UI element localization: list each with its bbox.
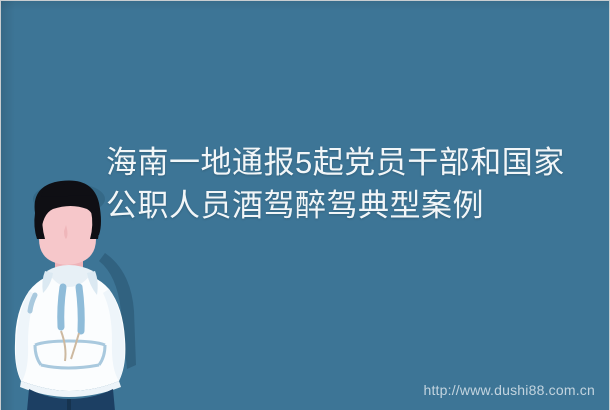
hoodie [15, 265, 126, 397]
headline-line-2: 公职人员酒驾醉驾典型案例 [106, 184, 576, 227]
site-watermark: http://www.dushi88.com.cn [423, 382, 595, 398]
headline: 海南一地通报5起党员干部和国家 公职人员酒驾醉驾典型案例 [106, 141, 576, 227]
news-banner: 海南一地通报5起党员干部和国家 公职人员酒驾醉驾典型案例 http://www.… [0, 0, 610, 410]
headline-line-1: 海南一地通报5起党员干部和国家 [106, 141, 576, 184]
